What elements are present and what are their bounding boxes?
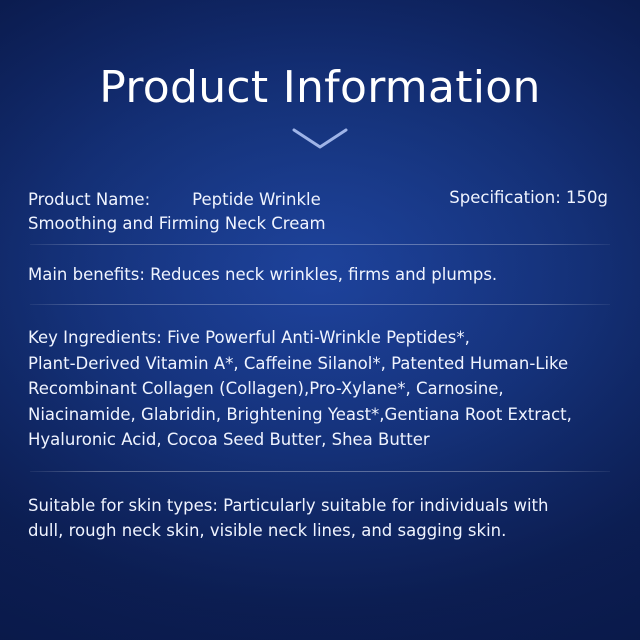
ingredients-line-3: Recombinant Collagen (Collagen),Pro-Xyla… [28,376,612,402]
page-title: Product Information [28,0,612,112]
ingredients-line-1: Key Ingredients: Five Powerful Anti-Wrin… [28,325,612,351]
product-name-row: Product Name:Peptide Wrinkle Smoothing a… [28,170,612,244]
key-ingredients-block: Key Ingredients: Five Powerful Anti-Wrin… [28,305,612,471]
product-information-card: Product Information Product Name:Peptide… [0,0,640,640]
specification-text: Specification: 150g [449,188,608,207]
suitable-line-1: Suitable for skin types: Particularly su… [28,494,612,519]
suitable-line-2: dull, rough neck skin, visible neck line… [28,519,612,544]
product-name-label: Product Name: [28,190,150,209]
chevron-down-icon [28,126,612,152]
product-name-value-line1: Peptide Wrinkle [192,190,321,209]
suitable-skin-types-block: Suitable for skin types: Particularly su… [28,472,612,554]
card-content: Product Information Product Name:Peptide… [0,0,640,553]
product-name-value-line2: Smoothing and Firming Neck Cream [28,214,326,233]
product-name-block: Product Name:Peptide Wrinkle Smoothing a… [28,188,358,236]
ingredients-line-5: Hyaluronic Acid, Cocoa Seed Butter, Shea… [28,427,612,453]
chevron-down-icon-svg [290,126,350,152]
main-benefits-text: Main benefits: Reduces neck wrinkles, fi… [28,245,612,304]
ingredients-line-2: Plant-Derived Vitamin A*, Caffeine Silan… [28,351,612,377]
ingredients-line-4: Niacinamide, Glabridin, Brightening Yeas… [28,402,612,428]
